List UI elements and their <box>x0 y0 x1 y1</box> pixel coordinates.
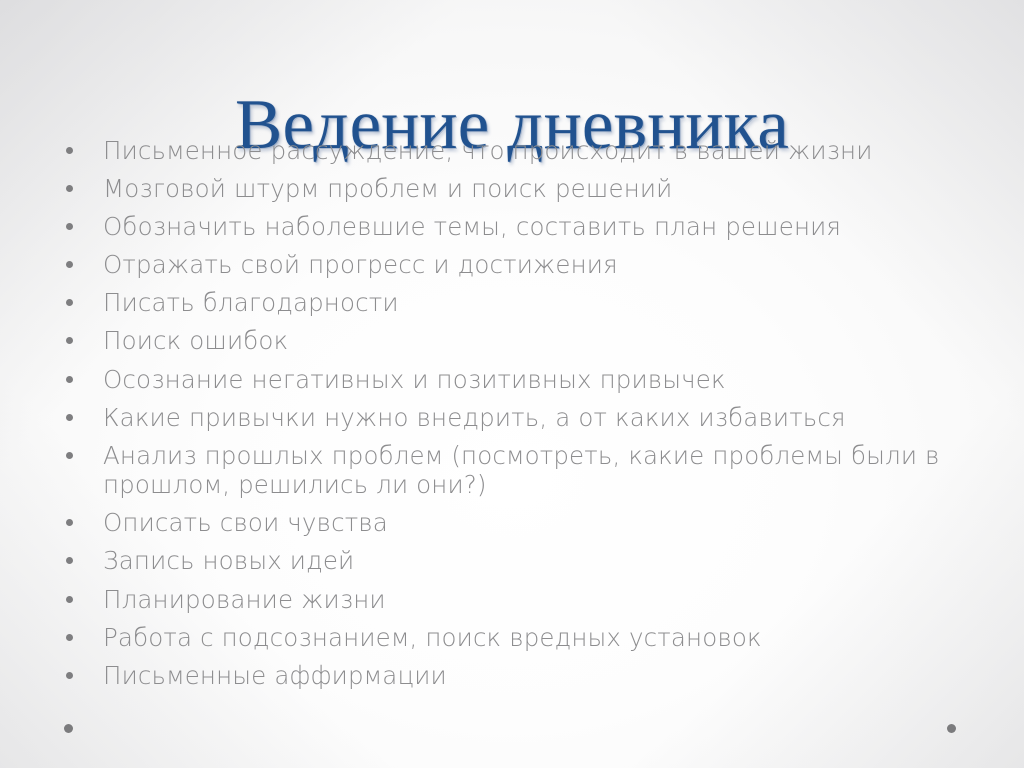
list-item: Писать благодарности <box>57 288 987 318</box>
list-item-label: Обозначить наболевшие темы, составить пл… <box>103 212 987 242</box>
list-item: Работа с подсознанием, поиск вредных уст… <box>57 623 987 653</box>
list-item: Письменное рассуждение, что происходит в… <box>57 136 987 166</box>
list-item-label: Работа с подсознанием, поиск вредных уст… <box>103 623 987 653</box>
bullet-dot-icon <box>66 557 73 564</box>
bullet-dot-icon <box>66 299 73 306</box>
list-item: Запись новых идей <box>57 546 987 576</box>
bullet-dot-icon <box>66 376 73 383</box>
list-item-label: Описать свои чувства <box>103 508 987 538</box>
bullet-list: Письменное рассуждение, что происходит в… <box>57 136 987 699</box>
list-item: Планирование жизни <box>57 585 987 615</box>
list-item-label: Какие привычки нужно внедрить, а от каки… <box>103 403 987 433</box>
bullet-dot-icon <box>66 452 73 459</box>
list-item: Анализ прошлых проблем (посмотреть, каки… <box>57 441 987 500</box>
list-item: Отражать свой прогресс и достижения <box>57 250 987 280</box>
list-item-label: Планирование жизни <box>103 585 987 615</box>
bullet-dot-icon <box>66 185 73 192</box>
list-item-label: Отражать свой прогресс и достижения <box>103 250 987 280</box>
list-item-label: Осознание негативных и позитивных привыч… <box>103 365 987 395</box>
list-item: Осознание негативных и позитивных привыч… <box>57 365 987 395</box>
list-item-label: Запись новых идей <box>103 546 987 576</box>
bottom-right-bullet-dot-icon <box>947 724 956 733</box>
list-item-label: Письменные аффирмации <box>103 661 987 691</box>
list-item: Описать свои чувства <box>57 508 987 538</box>
bullet-dot-icon <box>66 672 73 679</box>
slide-canvas: Ведение дневника Письменное рассуждение,… <box>0 0 1024 768</box>
bullet-dot-icon <box>66 596 73 603</box>
list-item: Поиск ошибок <box>57 326 987 356</box>
bullet-dot-icon <box>66 223 73 230</box>
bullet-dot-icon <box>66 337 73 344</box>
bullet-dot-icon <box>66 414 73 421</box>
bullet-dot-icon <box>66 261 73 268</box>
list-item-label: Анализ прошлых проблем (посмотреть, каки… <box>103 441 987 500</box>
bullet-dot-icon <box>66 147 73 154</box>
bullet-dot-icon <box>66 634 73 641</box>
list-item: Обозначить наболевшие темы, составить пл… <box>57 212 987 242</box>
bullet-dot-icon <box>66 519 73 526</box>
list-item: Мозговой штурм проблем и поиск решений <box>57 174 987 204</box>
list-item-label: Писать благодарности <box>103 288 987 318</box>
list-item: Письменные аффирмации <box>57 661 987 691</box>
list-item-label: Письменное рассуждение, что происходит в… <box>103 136 987 166</box>
list-item-label: Поиск ошибок <box>103 326 987 356</box>
list-item-label: Мозговой штурм проблем и поиск решений <box>103 174 987 204</box>
list-item: Какие привычки нужно внедрить, а от каки… <box>57 403 987 433</box>
bottom-left-bullet-dot-icon <box>64 724 73 733</box>
